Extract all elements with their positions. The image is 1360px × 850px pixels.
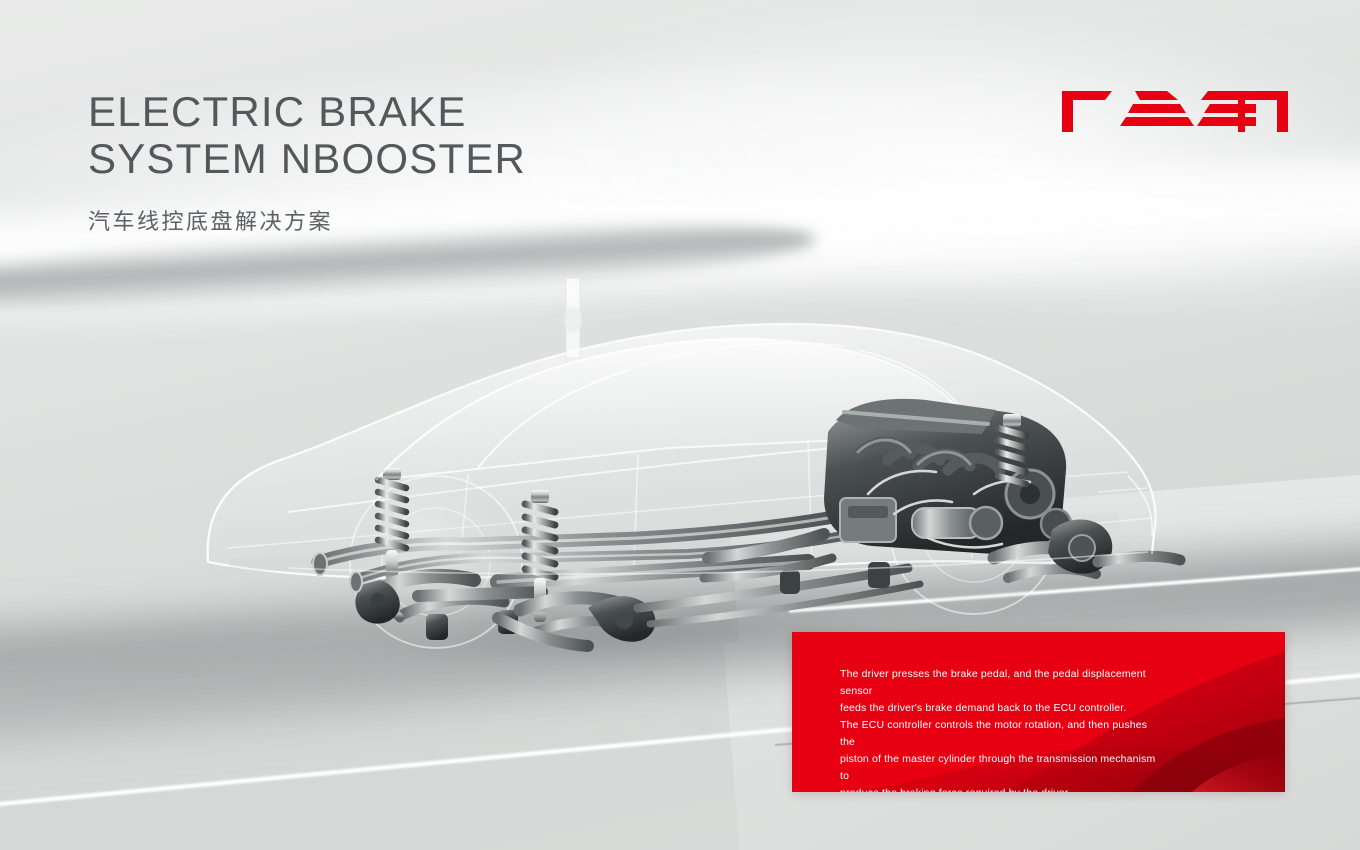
- nasn-logo: [1060, 82, 1290, 134]
- description-line-3: The ECU controller controls the motor ro…: [840, 717, 1160, 751]
- description-line-4: piston of the master cylinder through th…: [840, 751, 1160, 785]
- description-line-2: feeds the driver's brake demand back to …: [840, 700, 1160, 717]
- description-panel: The driver presses the brake pedal, and …: [792, 632, 1285, 792]
- title-line-1: ELECTRIC BRAKE: [88, 88, 708, 135]
- subtitle-chinese: 汽车线控底盘解决方案: [88, 204, 708, 236]
- page-title: ELECTRIC BRAKE SYSTEM NBOOSTER 汽车线控底盘解决方…: [88, 88, 708, 236]
- panel-description-text: The driver presses the brake pedal, and …: [792, 632, 1160, 792]
- slide-canvas: ELECTRIC BRAKE SYSTEM NBOOSTER 汽车线控底盘解决方…: [0, 0, 1360, 850]
- description-line-1: The driver presses the brake pedal, and …: [840, 666, 1160, 700]
- title-line-2: SYSTEM NBOOSTER: [88, 135, 708, 182]
- description-line-5: produce the braking force required by th…: [840, 785, 1160, 792]
- transparent-car-chassis-cutaway: [168, 262, 1188, 662]
